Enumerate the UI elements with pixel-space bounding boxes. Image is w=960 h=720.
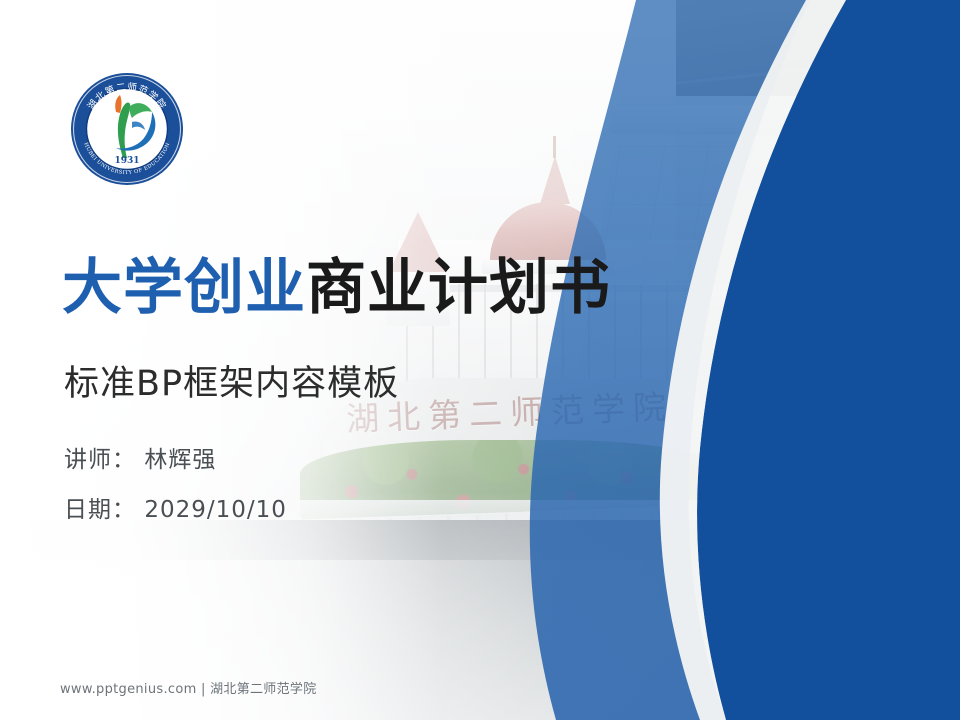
- title-rest: 商业计划书: [306, 253, 611, 323]
- logo-year-1931: 1931: [114, 156, 139, 166]
- presentation-meta: 讲师： 林辉强 日期： 2029/10/10: [64, 440, 287, 540]
- date-value: 2029/10/10: [144, 497, 287, 523]
- presenter-value: 林辉强: [144, 447, 216, 473]
- date-label: 日期：: [64, 497, 136, 523]
- university-logo: 湖北第二师范学院 HUBEI UNIVERSITY OF EDUCATION 1…: [68, 70, 186, 188]
- presentation-slide: 湖北第二师范学院: [0, 0, 960, 720]
- page-subtitle: 标准BP框架内容模板: [64, 355, 399, 406]
- page-title: 大学创业商业计划书: [62, 258, 611, 318]
- presenter-row: 讲师： 林辉强: [64, 440, 287, 474]
- title-highlight: 大学创业: [62, 253, 306, 323]
- slide-footer: www.pptgenius.com | 湖北第二师范学院: [60, 678, 317, 697]
- slide-content: 湖北第二师范学院 HUBEI UNIVERSITY OF EDUCATION 1…: [0, 0, 960, 720]
- date-row: 日期： 2029/10/10: [64, 490, 287, 524]
- presenter-label: 讲师：: [64, 447, 136, 473]
